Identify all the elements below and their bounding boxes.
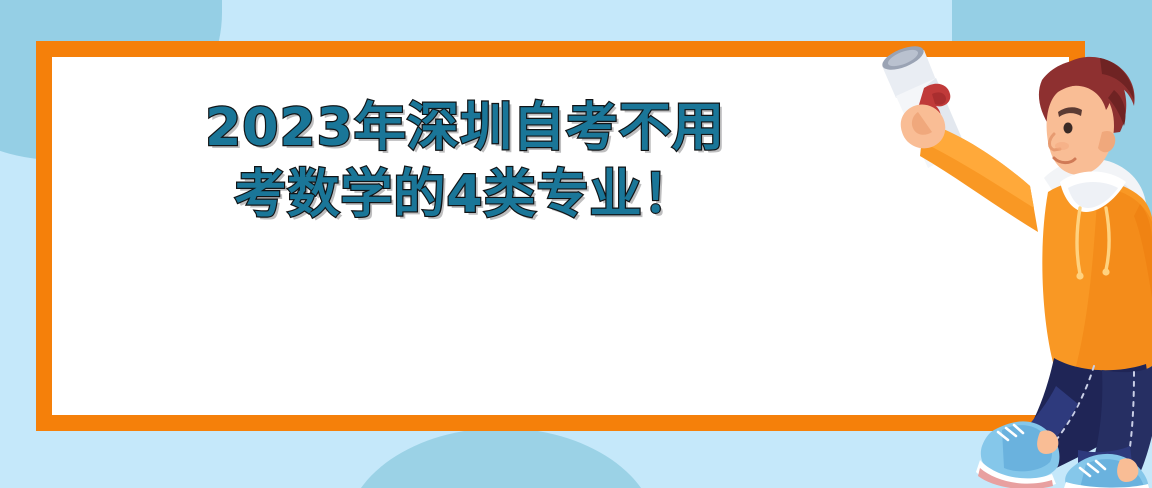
background-blob-bottom-center [345, 428, 657, 488]
page-title: 2023年深圳自考不用 考数学的4类专业！ [155, 95, 775, 228]
headline-line-2: 考数学的4类专业！ [155, 162, 775, 229]
right-shoe [1064, 454, 1149, 488]
headline-line-1: 2023年深圳自考不用 [155, 95, 775, 162]
left-shoe [976, 421, 1059, 488]
promo-banner: 2023年深圳自考不用 考数学的4类专业！ [0, 0, 1152, 488]
